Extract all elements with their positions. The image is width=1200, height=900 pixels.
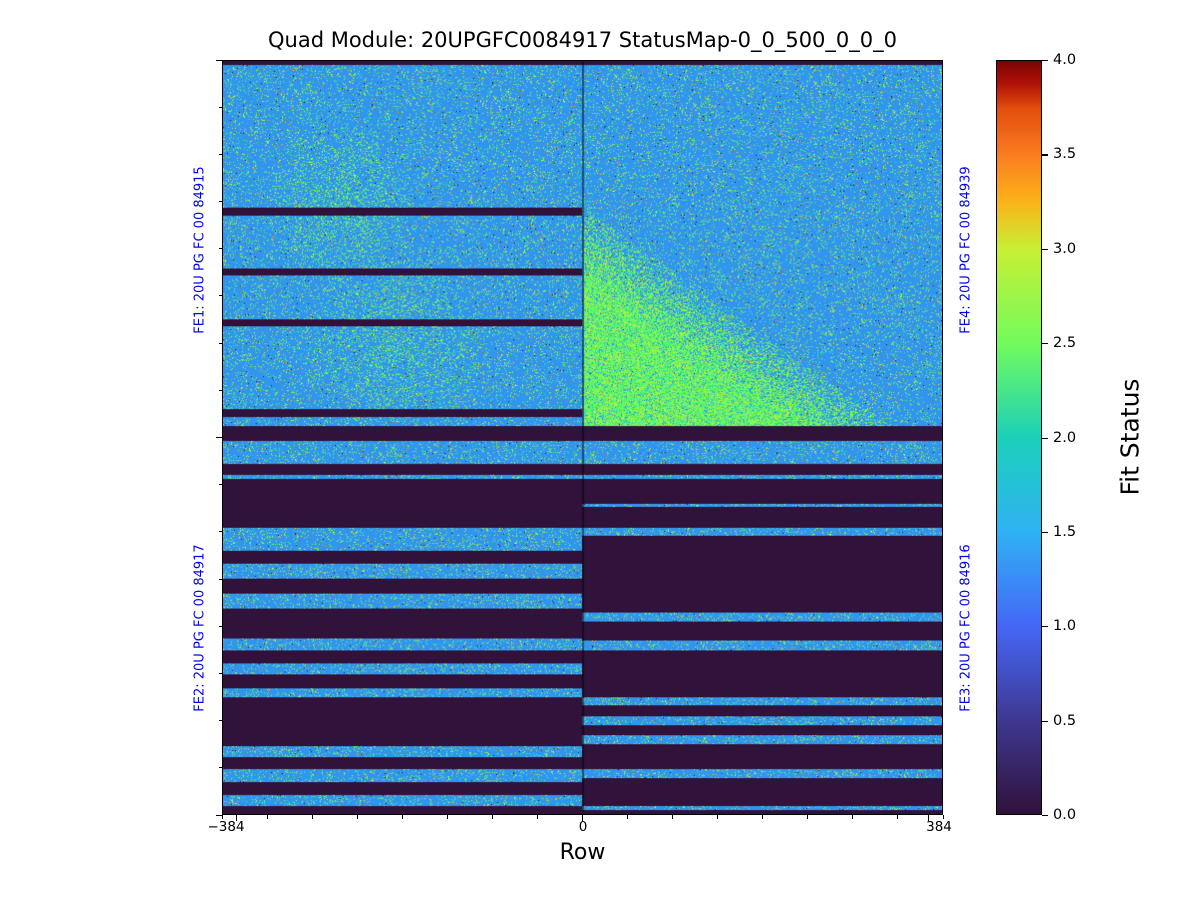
colorbar-ticklabel-1-5: 1.5 <box>1053 524 1076 540</box>
x-minor-tick-16 <box>943 815 944 819</box>
y-minor-tick-9 <box>219 484 223 485</box>
colorbar-tick-3-0 <box>1042 249 1048 250</box>
x-minor-tick-3 <box>357 815 358 819</box>
x-minor-tick-14 <box>852 815 853 819</box>
colorbar-ticklabel-2-0: 2.0 <box>1053 430 1076 446</box>
y-minor-tick-7 <box>219 390 223 391</box>
y-minor-tick-6 <box>219 343 223 344</box>
colorbar-tick-4-0 <box>1042 60 1048 61</box>
y-minor-tick-10 <box>219 531 223 532</box>
colorbar-tick-1-5 <box>1042 532 1048 533</box>
y-minor-tick-5 <box>219 295 223 296</box>
colorbar-tick-2-0 <box>1042 438 1048 439</box>
colorbar-ticklabel-3-5: 3.5 <box>1053 146 1076 162</box>
colorbar-ticklabel-1-0: 1.0 <box>1053 618 1076 634</box>
y-minor-tick-12 <box>219 626 223 627</box>
colorbar-ticklabel-0-5: 0.5 <box>1053 713 1076 729</box>
heatmap-axes <box>222 60 943 815</box>
colorbar-tick-0-0 <box>1042 815 1048 816</box>
x-minor-tick-2 <box>312 815 313 819</box>
colorbar-ticklabel-4-0: 4.0 <box>1053 52 1076 68</box>
x-minor-tick-12 <box>762 815 763 819</box>
figure-canvas: Quad Module: 20UPGFC0084917 StatusMap-0_… <box>0 0 1200 900</box>
fe2-chip-label: FE2: 20U PG FC 00 84917 <box>193 544 208 711</box>
fe4-chip-label: FE4: 20U PG FC 00 84939 <box>959 166 974 333</box>
colorbar-label: Fit Status <box>1116 379 1145 496</box>
colorbar-tick-0-5 <box>1042 721 1048 722</box>
x-minor-tick-1 <box>267 815 268 819</box>
x-minor-tick-7 <box>537 815 538 819</box>
x-tick-label-384: 384 <box>926 819 952 835</box>
colorbar-tick-1-0 <box>1042 626 1048 627</box>
x-major-tick-0 <box>236 815 237 821</box>
colorbar-tick-2-5 <box>1042 343 1048 344</box>
y-minor-tick-15 <box>219 767 223 768</box>
x-minor-tick-4 <box>402 815 403 819</box>
x-minor-tick-11 <box>717 815 718 819</box>
x-axis-label: Row <box>222 840 943 865</box>
x-minor-tick-0 <box>222 815 223 819</box>
colorbar <box>996 60 1042 815</box>
y-major-tick-1 <box>216 437 222 438</box>
colorbar-ticklabel-2-5: 2.5 <box>1053 335 1076 351</box>
y-minor-tick-13 <box>219 673 223 674</box>
y-minor-tick-4 <box>219 248 223 249</box>
x-tick-label-0: 0 <box>579 819 588 835</box>
x-tick-label-n384: −384 <box>207 819 244 835</box>
y-minor-tick-2 <box>219 154 223 155</box>
x-minor-tick-13 <box>807 815 808 819</box>
colorbar-ticklabel-0-0: 0.0 <box>1053 807 1076 823</box>
x-minor-tick-10 <box>672 815 673 819</box>
y-minor-tick-14 <box>219 720 223 721</box>
colorbar-tick-3-5 <box>1042 154 1048 155</box>
page-title: Quad Module: 20UPGFC0084917 StatusMap-0_… <box>222 28 943 52</box>
fe3-chip-label: FE3: 20U PG FC 00 84916 <box>959 544 974 711</box>
colorbar-ticklabel-3-0: 3.0 <box>1053 241 1076 257</box>
y-major-tick-0 <box>216 60 222 61</box>
x-minor-tick-9 <box>627 815 628 819</box>
y-minor-tick-1 <box>219 107 223 108</box>
x-minor-tick-8 <box>582 815 583 819</box>
y-minor-tick-11 <box>219 579 223 580</box>
y-minor-tick-3 <box>219 201 223 202</box>
x-minor-tick-5 <box>447 815 448 819</box>
x-minor-tick-6 <box>492 815 493 819</box>
x-major-tick-2 <box>928 815 929 821</box>
x-minor-tick-15 <box>897 815 898 819</box>
fe1-chip-label: FE1: 20U PG FC 00 84915 <box>193 166 208 333</box>
heatmap-image <box>223 61 942 814</box>
